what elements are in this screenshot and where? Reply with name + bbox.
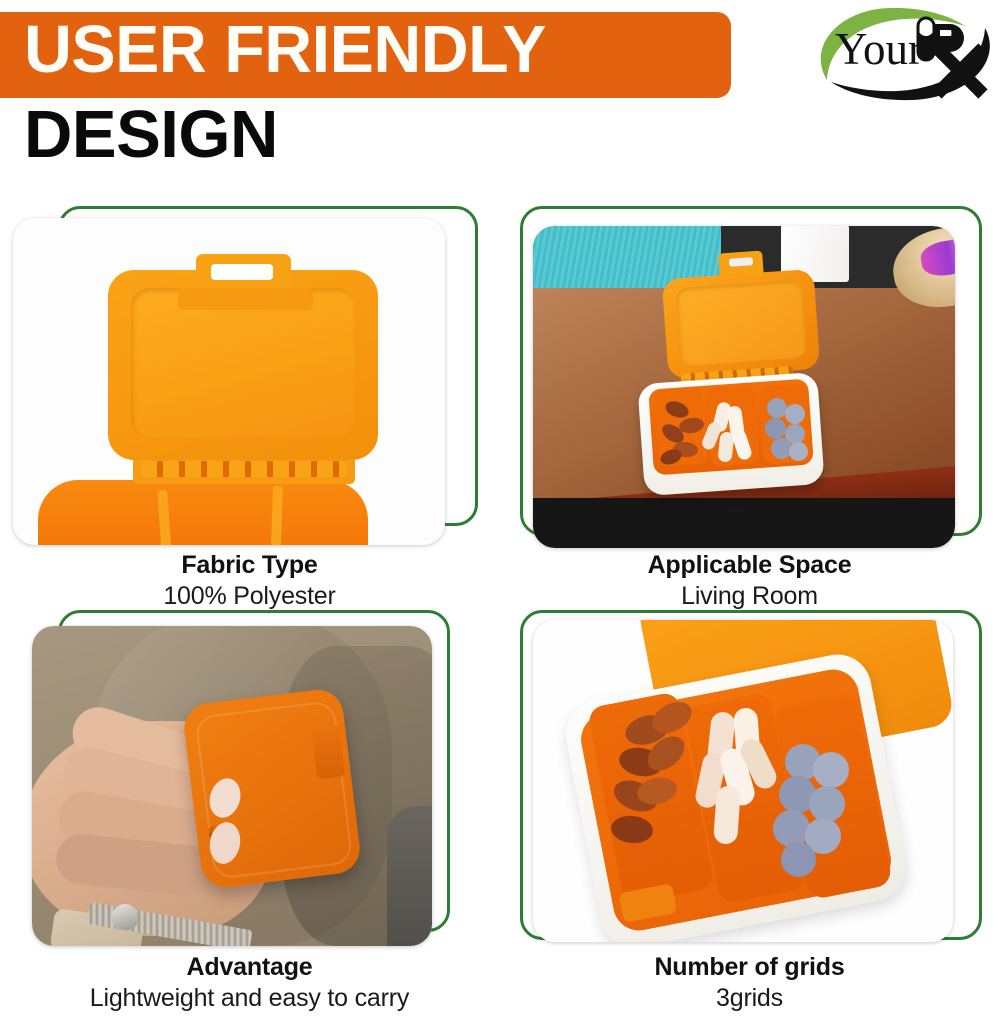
caption-subtitle: 100% Polyester bbox=[0, 580, 499, 612]
product-photo-open-lid bbox=[13, 218, 445, 545]
feature-card-advantage: Advantage Lightweight and easy to carry bbox=[0, 600, 499, 1024]
case-base bbox=[38, 480, 368, 545]
case-hinge-teeth bbox=[141, 461, 347, 477]
feature-card-applicable-space: Applicable Space Living Room bbox=[500, 190, 999, 600]
bag-side-panel bbox=[387, 806, 432, 946]
feature-card-number-of-grids: Number of grids 3grids bbox=[500, 600, 999, 1024]
caption-title: Applicable Space bbox=[500, 550, 999, 580]
page-title-line2: DESIGN bbox=[24, 100, 278, 170]
case-lid-inner bbox=[675, 280, 806, 367]
page-title-line1: USER FRIENDLY bbox=[24, 15, 717, 85]
caption-applicable-space: Applicable Space Living Room bbox=[500, 550, 999, 612]
caption-number-of-grids: Number of grids 3grids bbox=[500, 952, 999, 1014]
caption-subtitle: 3grids bbox=[500, 982, 999, 1014]
product-photo-living-room bbox=[533, 226, 955, 548]
caption-title: Number of grids bbox=[500, 952, 999, 982]
product-photo-hand-holding bbox=[32, 626, 432, 946]
brand-logo: Your bbox=[797, 2, 993, 106]
caption-advantage: Advantage Lightweight and easy to carry bbox=[0, 952, 499, 1014]
case-clasp-hole bbox=[211, 264, 273, 280]
product-photo-three-compartments bbox=[533, 620, 953, 942]
case-clasp-base bbox=[178, 288, 313, 310]
svg-text:Your: Your bbox=[835, 24, 923, 74]
caption-subtitle: Living Room bbox=[500, 580, 999, 612]
caption-title: Advantage bbox=[0, 952, 499, 982]
caption-subtitle: Lightweight and easy to carry bbox=[0, 982, 499, 1014]
caption-fabric-type: Fabric Type 100% Polyester bbox=[0, 550, 499, 612]
case-lid-inner bbox=[131, 288, 355, 438]
zipper-pull bbox=[112, 904, 138, 930]
feature-card-fabric-type: Fabric Type 100% Polyester bbox=[0, 190, 499, 600]
caption-title: Fabric Type bbox=[0, 550, 499, 580]
page-header: USER FRIENDLY DESIGN Your bbox=[0, 0, 999, 175]
